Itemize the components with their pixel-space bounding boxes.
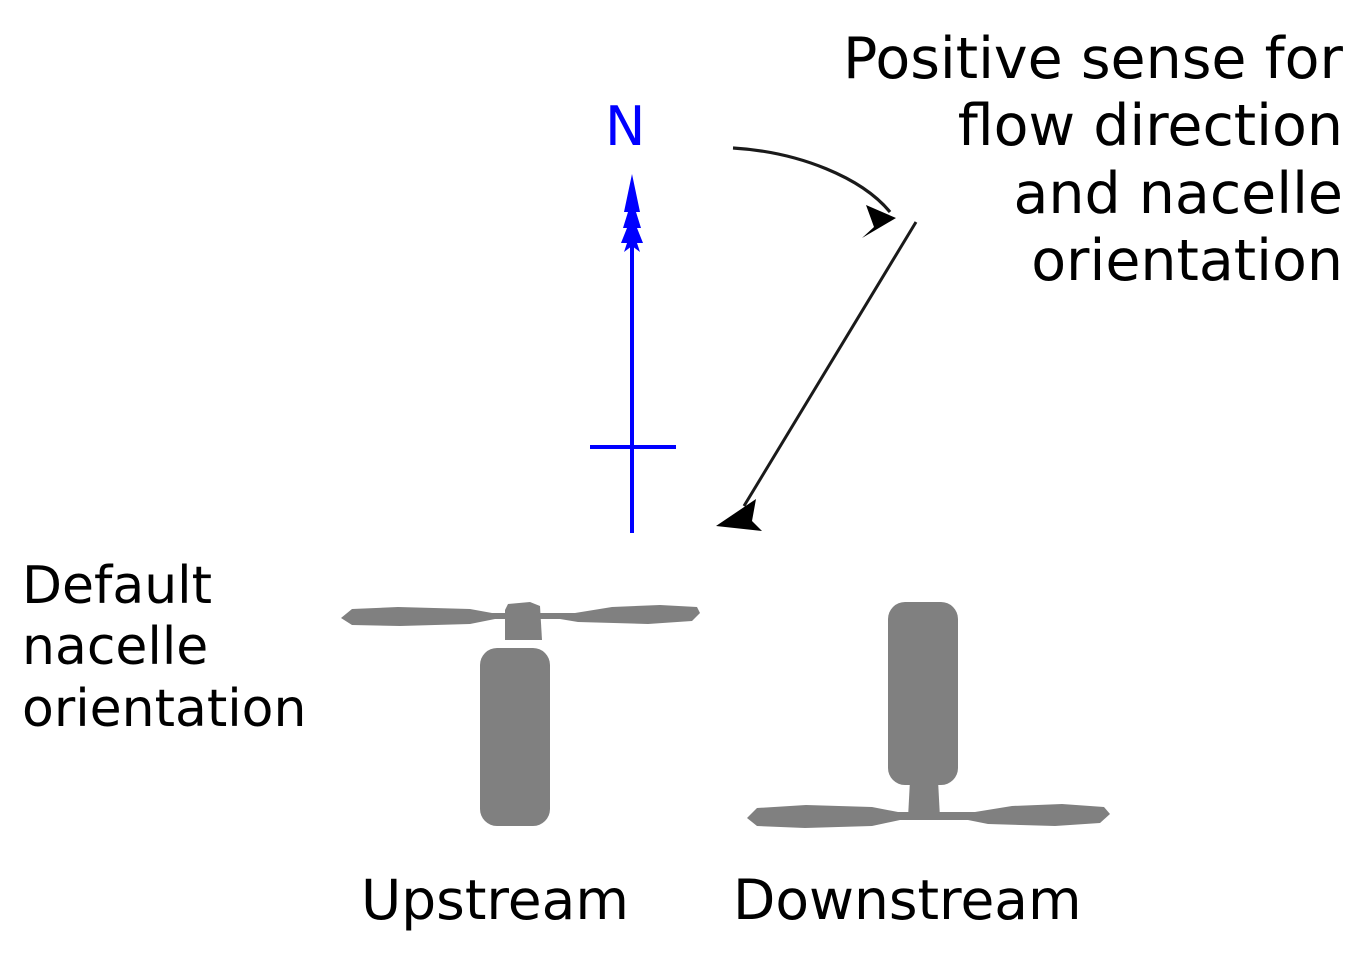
upstream-rotor-hub <box>505 602 542 640</box>
positive-sense-arrowhead <box>716 499 762 531</box>
default-nacelle-orientation-label: Default nacelle orientation <box>22 556 306 740</box>
upstream-label: Upstream <box>361 868 629 933</box>
north-arrow-group <box>590 174 676 533</box>
turbine-downstream <box>747 602 1110 828</box>
turbine-upstream <box>341 602 700 826</box>
north-arrow-head <box>621 174 643 252</box>
positive-sense-annotation: Positive sense for flow direction and na… <box>843 26 1343 295</box>
downstream-label: Downstream <box>733 868 1082 933</box>
north-label: N <box>605 95 645 159</box>
upstream-nacelle-body <box>480 648 550 826</box>
diagram-canvas: N Positive sense for flow direction and … <box>0 0 1371 954</box>
downstream-nacelle-body <box>888 602 958 785</box>
